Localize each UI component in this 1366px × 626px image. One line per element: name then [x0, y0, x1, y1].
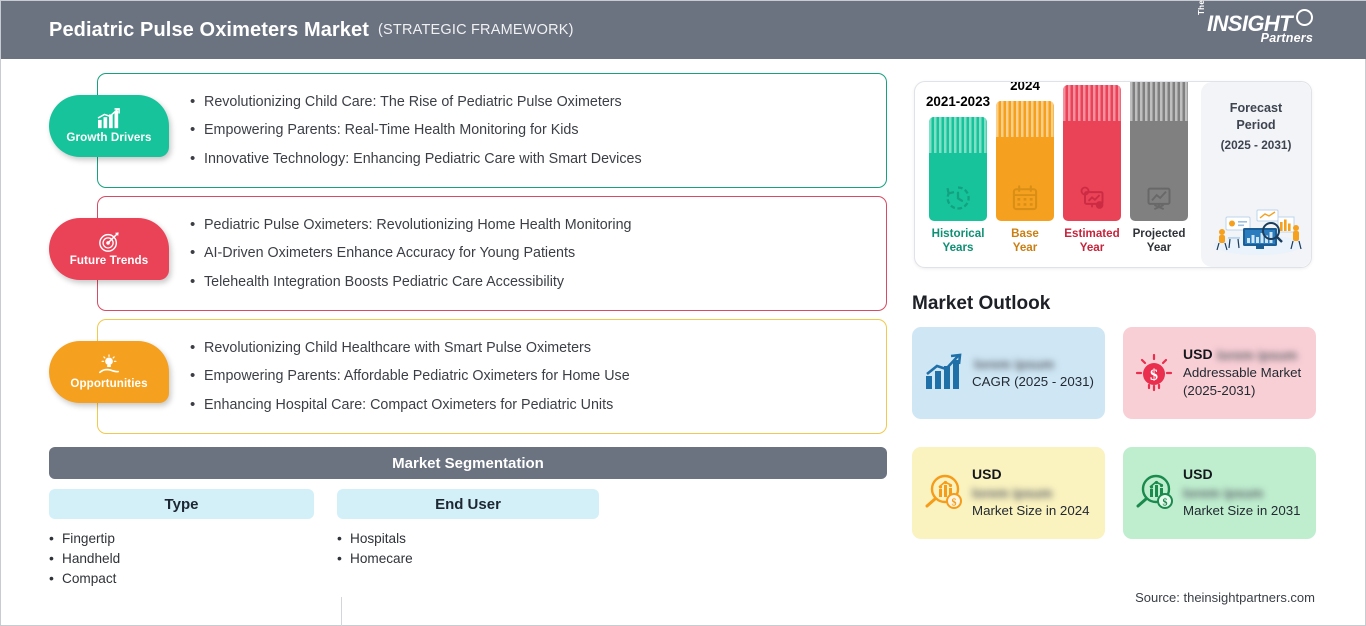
segmentation-list-type: Fingertip Handheld Compact [49, 529, 314, 589]
logo-partners-text: Partners [1261, 31, 1313, 45]
market-outlook-card-cagr[interactable]: lorem ipsum CAGR (2025 - 2031) [912, 327, 1105, 419]
driver-box-future-trends: Pediatric Pulse Oximeters: Revolutionizi… [97, 196, 887, 311]
timeline-bar [1063, 85, 1121, 221]
market-outlook-usd-row: USD [972, 466, 1095, 484]
timeline-year-label: 2021-2023 [926, 94, 990, 109]
target-dart-icon [96, 231, 122, 253]
forecast-period-years: (2025 - 2031) [1201, 137, 1311, 154]
data-analysis-illustration [1208, 201, 1304, 255]
timeline-panel: 2021-2023 Historical Years 2024 [914, 81, 1312, 268]
list-item: Revolutionizing Child Care: The Rise of … [190, 88, 886, 116]
timeline-year-label: 2024 [1010, 81, 1040, 93]
infographic-page: Pediatric Pulse Oximeters Market (STRATE… [0, 0, 1366, 626]
list-item: Handheld [49, 549, 314, 569]
timeline-bars: 2021-2023 Historical Years 2024 [915, 82, 1205, 267]
source-attribution: Source: theinsightpartners.com [1135, 590, 1315, 605]
calendar-icon [1011, 184, 1039, 212]
segmentation-column-end-user: End User Hospitals Homecare [337, 489, 599, 569]
history-clock-icon [944, 184, 972, 212]
market-outlook-value-row: lorem ipsum [972, 484, 1095, 502]
driver-pill-label: Growth Drivers [66, 131, 151, 144]
magnifier-chart-dollar-icon: $ [1133, 472, 1175, 514]
market-outlook-value: lorem ipsum [974, 357, 1054, 372]
market-outlook-card-body: USD lorem ipsum Addressable Market (2025… [1183, 346, 1306, 400]
list-item: Hospitals [337, 529, 599, 549]
growth-bar-chart-icon [922, 352, 964, 394]
segmentation-list-end-user: Hospitals Homecare [337, 529, 599, 569]
timeline-bar-stripes [996, 101, 1054, 137]
driver-pill-future-trends[interactable]: Future Trends [49, 218, 169, 280]
market-outlook-card-market-size-2031[interactable]: $ USD lorem ipsum Market Size in 2031 [1123, 447, 1316, 539]
market-outlook-usd-row: USD [1183, 466, 1306, 484]
driver-box-growth-drivers: Revolutionizing Child Care: The Rise of … [97, 73, 887, 188]
market-segmentation-bar: Market Segmentation [49, 447, 887, 479]
timeline-caption: Historical Years [932, 227, 985, 255]
page-subtitle: (STRATEGIC FRAMEWORK) [378, 22, 574, 38]
forecast-period-text: Forecast Period (2025 - 2031) [1201, 100, 1311, 154]
market-outlook-card-body: lorem ipsum CAGR (2025 - 2031) [972, 355, 1095, 391]
list-item: Pediatric Pulse Oximeters: Revolutionizi… [190, 211, 886, 239]
segmentation-header-end-user: End User [337, 489, 599, 519]
svg-text:$: $ [1163, 498, 1168, 509]
timeline-caption: Estimated Year [1064, 227, 1119, 255]
svg-text:$: $ [1150, 367, 1158, 384]
market-outlook-title: Market Outlook [912, 293, 1050, 315]
market-outlook-card-market-size-2024[interactable]: $ USD lorem ipsum Market Size in 2024 [912, 447, 1105, 539]
driver-pill-label: Opportunities [70, 377, 147, 390]
list-item: Telehealth Integration Boosts Pediatric … [190, 268, 886, 296]
timeline-caption: Base Year [1011, 227, 1039, 255]
market-outlook-value: lorem ipsum [1183, 486, 1263, 501]
market-outlook-label: CAGR (2025 - 2031) [972, 373, 1095, 391]
timeline-bar-stripes [1130, 81, 1188, 121]
segmentation-column-type: Type Fingertip Handheld Compact [49, 489, 314, 589]
currency-label: USD [1183, 346, 1213, 362]
market-outlook-value: lorem ipsum [1217, 348, 1297, 363]
market-outlook-card-addressable-market[interactable]: $ USD lorem ipsum Addressable Market (20… [1123, 327, 1316, 419]
timeline-caption: Projected Year [1133, 227, 1186, 255]
driver-bullet-list: Pediatric Pulse Oximeters: Revolutionizi… [190, 211, 886, 296]
page-header: Pediatric Pulse Oximeters Market (STRATE… [1, 1, 1366, 59]
magnifier-chart-dollar-icon: $ [922, 472, 964, 514]
timeline-bar-stripes [929, 117, 987, 153]
driver-pill-growth-drivers[interactable]: Growth Drivers [49, 95, 169, 157]
driver-pill-label: Future Trends [70, 254, 149, 267]
timeline-bar-stripes [1063, 85, 1121, 121]
timeline-bar [996, 101, 1054, 221]
market-outlook-label: Addressable Market (2025-2031) [1183, 364, 1306, 400]
bar-chart-arrow-icon [96, 108, 122, 130]
currency-label: USD [1183, 466, 1213, 482]
list-item: Compact [49, 569, 314, 589]
timeline-bar [929, 117, 987, 221]
market-outlook-value-row: lorem ipsum [1183, 484, 1306, 502]
market-outlook-value-row: USD lorem ipsum [1183, 346, 1306, 364]
presentation-chart-icon [1145, 184, 1173, 212]
list-item: Fingertip [49, 529, 314, 549]
driver-bullet-list: Revolutionizing Child Healthcare with Sm… [190, 334, 886, 419]
market-outlook-label: Market Size in 2024 [972, 502, 1095, 520]
market-outlook-card-body: USD lorem ipsum Market Size in 2031 [1183, 466, 1306, 520]
forecast-period-panel: Forecast Period (2025 - 2031) [1201, 82, 1311, 267]
lightbulb-hand-icon [96, 354, 122, 376]
list-item: AI-Driven Oximeters Enhance Accuracy for… [190, 239, 886, 267]
driver-bullet-list: Revolutionizing Child Care: The Rise of … [190, 88, 886, 173]
currency-label: USD [972, 466, 1002, 482]
list-item: Homecare [337, 549, 599, 569]
bottom-divider [341, 597, 342, 626]
market-segmentation-title: Market Segmentation [392, 455, 544, 472]
market-outlook-card-body: USD lorem ipsum Market Size in 2024 [972, 466, 1095, 520]
bulb-dollar-icon: $ [1133, 352, 1175, 394]
logo-the-text: The [1197, 0, 1206, 15]
insight-partners-logo: The INSIGHT Partners [1197, 10, 1315, 50]
driver-box-opportunities: Revolutionizing Child Healthcare with Sm… [97, 319, 887, 434]
timeline-bar [1130, 81, 1188, 221]
market-outlook-value: lorem ipsum [972, 486, 1052, 501]
list-item: Empowering Parents: Affordable Pediatric… [190, 362, 886, 390]
market-outlook-label: Market Size in 2031 [1183, 502, 1306, 520]
list-item: Enhancing Hospital Care: Compact Oximete… [190, 391, 886, 419]
driver-pill-opportunities[interactable]: Opportunities [49, 341, 169, 403]
list-item: Empowering Parents: Real-Time Health Mon… [190, 116, 886, 144]
market-outlook-value-row: lorem ipsum [972, 355, 1095, 373]
list-item: Revolutionizing Child Healthcare with Sm… [190, 334, 886, 362]
page-title: Pediatric Pulse Oximeters Market [49, 19, 369, 42]
svg-text:$: $ [952, 498, 957, 509]
analytics-gear-icon [1078, 184, 1106, 212]
list-item: Innovative Technology: Enhancing Pediatr… [190, 145, 886, 173]
segmentation-header-type: Type [49, 489, 314, 519]
logo-ring-icon [1296, 9, 1313, 26]
